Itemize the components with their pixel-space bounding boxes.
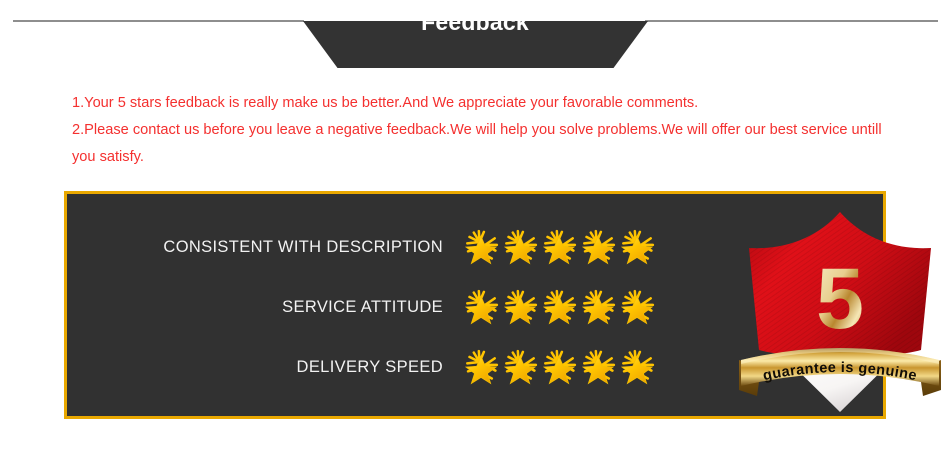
rating-label-delivery-speed: DELIVERY SPEED [297,358,463,377]
sparkle-star-icon [541,349,577,385]
sparkle-star-icon [502,289,538,325]
sparkle-star-icon [619,289,655,325]
sparkle-star-icon [541,289,577,325]
shield-icon: 5 guarantee is genuine [735,200,945,412]
sparkle-star-icon [580,229,616,265]
rating-label-service-attitude: SERVICE ATTITUDE [282,298,463,317]
sparkle-star-icon [541,229,577,265]
notice-line-1: 1.Your 5 stars feedback is really make u… [72,90,902,117]
star-rating-consistent-with-description [463,229,655,265]
sparkle-star-icon [502,349,538,385]
sparkle-star-icon [580,289,616,325]
star-rating-delivery-speed [463,349,655,385]
rating-row: DELIVERY SPEED [95,348,655,386]
feedback-notice: 1.Your 5 stars feedback is really make u… [72,90,902,171]
sparkle-star-icon [502,229,538,265]
rating-row: CONSISTENT WITH DESCRIPTION [95,228,655,266]
notice-line-2: 2.Please contact us before you leave a n… [72,117,902,171]
ratings-panel: CONSISTENT WITH DESCRIPTION SERVICE ATTI… [64,191,886,419]
sparkle-star-icon [463,229,499,265]
page-header: Feedback [0,0,950,80]
sparkle-star-icon [619,229,655,265]
sparkle-star-icon [580,349,616,385]
rating-label-consistent-with-description: CONSISTENT WITH DESCRIPTION [163,238,463,257]
badge-number: 5 [816,251,864,347]
star-rating-service-attitude [463,289,655,325]
ratings-list: CONSISTENT WITH DESCRIPTION SERVICE ATTI… [95,222,655,386]
page-title: Feedback [0,9,950,36]
rating-row: SERVICE ATTITUDE [95,288,655,326]
sparkle-star-icon [463,289,499,325]
sparkle-star-icon [619,349,655,385]
guarantee-badge: 5 guarantee is genuine [735,200,945,412]
sparkle-star-icon [463,349,499,385]
